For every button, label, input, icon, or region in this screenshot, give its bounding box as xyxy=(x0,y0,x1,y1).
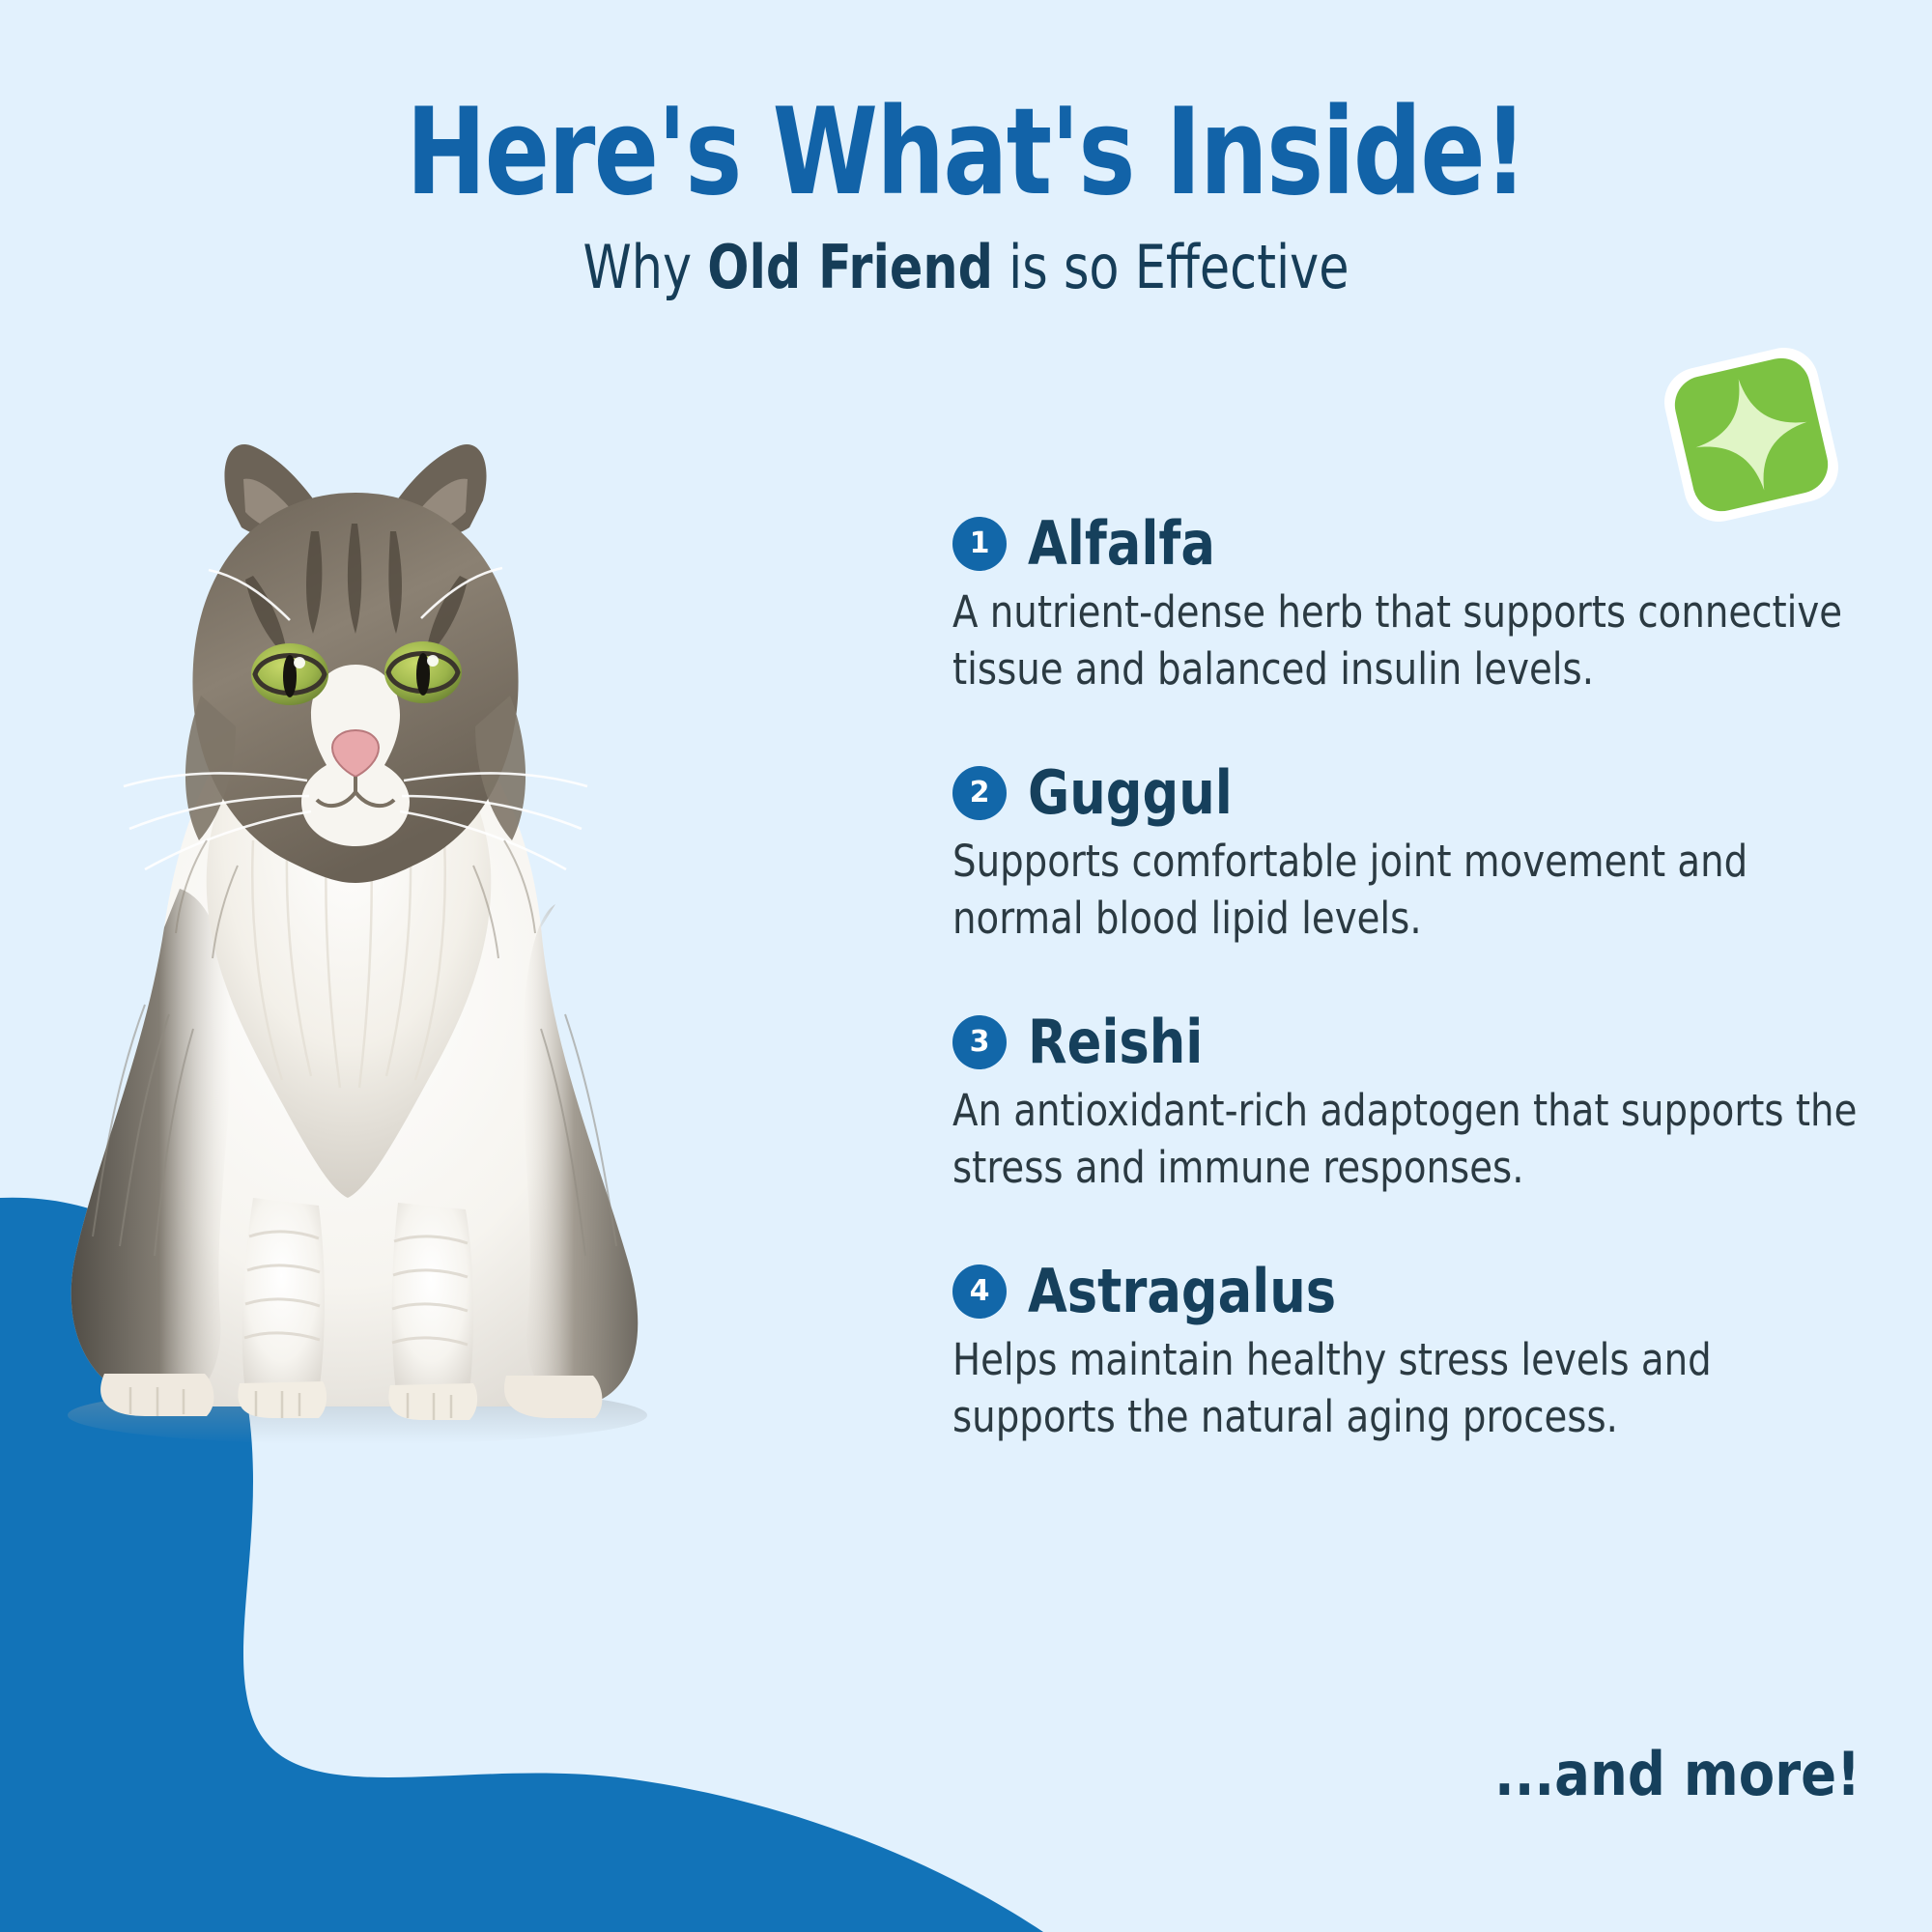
ingredient-description: An antioxidant-rich adaptogen that suppo… xyxy=(952,1083,1859,1196)
ingredient-heading: 4 Astragalus xyxy=(952,1260,1861,1322)
subtitle-brand: Old Friend xyxy=(707,232,993,302)
ingredient-item: 3 Reishi An antioxidant-rich adaptogen t… xyxy=(952,1010,1861,1196)
cat-eye-right xyxy=(384,641,462,703)
ingredient-name: Astragalus xyxy=(1028,1260,1336,1322)
header: Here's What's Inside! Why Old Friend is … xyxy=(0,93,1932,298)
ingredient-item: 4 Astragalus Helps maintain healthy stre… xyxy=(952,1260,1861,1445)
page-subtitle: Why Old Friend is so Effective xyxy=(174,238,1758,298)
subtitle-prefix: Why xyxy=(582,232,707,302)
ingredient-heading: 3 Reishi xyxy=(952,1010,1861,1073)
ingredient-number-badge: 3 xyxy=(952,1015,1007,1069)
sparkle-badge xyxy=(1660,343,1843,526)
cat-front-leg-left xyxy=(242,1198,325,1393)
cat-eye-left xyxy=(251,643,328,705)
ingredient-number-badge: 1 xyxy=(952,517,1007,571)
cat-photo xyxy=(0,386,715,1459)
cat-left-flank xyxy=(71,889,232,1406)
ingredient-item: 1 Alfalfa A nutrient-dense herb that sup… xyxy=(952,512,1861,697)
ingredient-heading: 1 Alfalfa xyxy=(952,512,1861,575)
subtitle-suffix: is so Effective xyxy=(993,232,1350,302)
cat-right-flank xyxy=(522,904,638,1406)
poster-canvas: Here's What's Inside! Why Old Friend is … xyxy=(0,0,1932,1932)
ingredient-description: Helps maintain healthy stress levels and… xyxy=(952,1332,1859,1445)
page-title: Here's What's Inside! xyxy=(193,93,1739,213)
ingredient-name: Guggul xyxy=(1028,761,1233,824)
ingredient-number-badge: 2 xyxy=(952,766,1007,820)
ingredient-item: 2 Guggul Supports comfortable joint move… xyxy=(952,761,1861,947)
ingredient-description: A nutrient-dense herb that supports conn… xyxy=(952,584,1859,697)
ingredient-name: Reishi xyxy=(1028,1010,1203,1073)
ingredient-list: 1 Alfalfa A nutrient-dense herb that sup… xyxy=(952,512,1861,1445)
ingredient-description: Supports comfortable joint movement and … xyxy=(952,834,1859,947)
cat-front-leg-right xyxy=(392,1203,473,1393)
ingredient-name: Alfalfa xyxy=(1028,512,1215,575)
ingredient-heading: 2 Guggul xyxy=(952,761,1861,824)
and-more-label: ...and more! xyxy=(1062,1739,1861,1809)
ingredient-number-badge: 4 xyxy=(952,1264,1007,1319)
cat-paw-side-right xyxy=(504,1376,602,1418)
